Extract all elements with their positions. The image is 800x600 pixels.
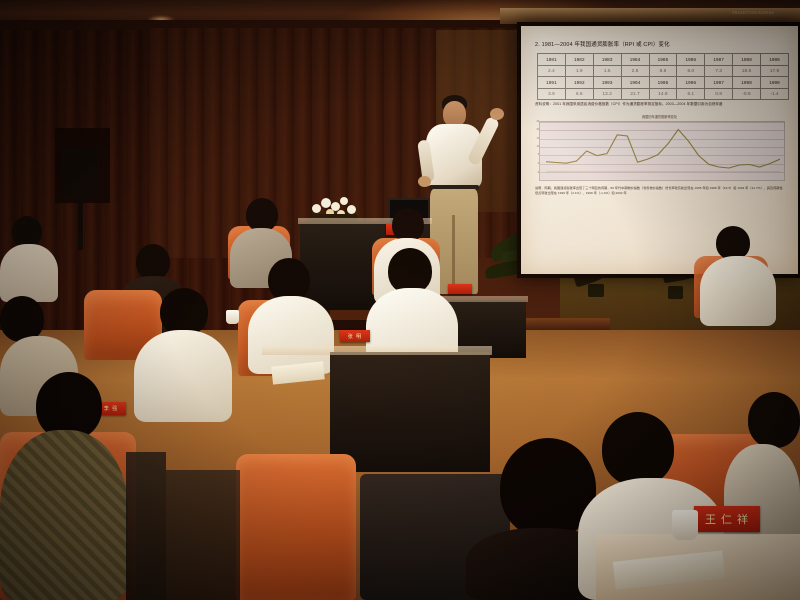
cell: 6.0	[677, 65, 705, 77]
cell: 6.1	[677, 88, 705, 100]
cell: 1983	[593, 54, 621, 66]
attendee-head	[246, 198, 278, 232]
placard-text: 李 强	[104, 405, 118, 412]
placard-text: 王 仁 祥	[705, 511, 749, 527]
pa-speaker-stand	[78, 198, 83, 250]
cell: 1986	[677, 54, 705, 66]
cell: 0.8	[705, 88, 733, 100]
y-tick-15: 15	[530, 138, 539, 140]
cell: 1989	[761, 54, 789, 66]
tea-cup-mid	[226, 310, 239, 324]
front-table-skirt-2	[166, 470, 240, 600]
y-tick-10: 10	[530, 146, 539, 148]
table-row-values-2: 3.9 6.6 13.2 21.7 14.8 6.1 0.8 -0.8 -1.4	[538, 88, 789, 100]
audience-table-mid	[330, 352, 490, 472]
cell: 1982	[565, 54, 593, 66]
cell: 1998	[733, 77, 761, 89]
cell: 13.2	[593, 88, 621, 100]
screen-valance-label: PROJECTION SCREEN	[732, 11, 774, 15]
cell: 2.4	[538, 65, 566, 77]
slide-note-above-chart: 资料说明：2001 年我国采用居民消费价格指数（CPI）作为通货膨胀率测定指标。…	[535, 102, 723, 107]
attendee-body	[700, 256, 776, 326]
y-tick-0: 0	[530, 163, 539, 165]
chart-title: 我国历年通货膨胀率变化	[521, 114, 798, 119]
conference-room-photo: PROJECTION SCREEN 2. 1981—2004 年我国通货膨胀率（…	[0, 0, 800, 600]
slide-title: 2. 1981—2004 年我国通货膨胀率（RPI 或 CPI）变化	[535, 40, 670, 48]
cell: 14.8	[649, 88, 677, 100]
cell: 1.5	[593, 65, 621, 77]
y-tick-20: 20	[530, 129, 539, 131]
cell: 2.8	[621, 65, 649, 77]
inflation-data-table: 1981 1982 1983 1984 1985 1986 1987 1988 …	[537, 53, 789, 100]
cell: 1992	[565, 77, 593, 89]
y-tick-neg5: -5	[528, 172, 539, 174]
cell: 1999	[761, 77, 789, 89]
y-tick-25: 25	[530, 121, 539, 123]
cell: 7.3	[705, 65, 733, 77]
audience-tabletop-mid	[262, 346, 492, 355]
name-placard-mid: 张 明	[340, 330, 370, 342]
cell: 1987	[705, 54, 733, 66]
chart-plot-area	[540, 122, 784, 180]
table-row-years-1: 1981 1982 1983 1984 1985 1986 1987 1988 …	[538, 54, 789, 66]
cell: 1981	[538, 54, 566, 66]
y-tick-5: 5	[530, 154, 539, 156]
attendee-head	[716, 226, 750, 260]
attendee-body	[0, 244, 58, 302]
projection-screen: 2. 1981—2004 年我国通货膨胀率（RPI 或 CPI）变化 1981 …	[521, 26, 798, 274]
attendee-head	[602, 412, 674, 486]
cell: 1985	[649, 54, 677, 66]
attendee-head	[392, 208, 424, 242]
cell: 21.7	[621, 88, 649, 100]
cell: -0.8	[733, 88, 761, 100]
front-table-skirt	[126, 452, 166, 600]
inflation-table-body: 1981 1982 1983 1984 1985 1986 1987 1988 …	[538, 54, 789, 100]
attendee-body	[0, 430, 128, 600]
name-placard-stage	[448, 284, 472, 294]
cell: 1984	[621, 54, 649, 66]
inflation-line-chart: 25 20 15 10 5 0 -5	[539, 121, 785, 181]
plant-pot-2	[668, 286, 683, 299]
attendee-head	[748, 392, 800, 448]
name-placard-front: 王 仁 祥	[694, 506, 760, 532]
plant-pot-1	[588, 284, 604, 297]
cell: 1988	[733, 54, 761, 66]
pa-speaker	[62, 148, 100, 198]
cell: -1.4	[761, 88, 789, 100]
cell: 1995	[649, 77, 677, 89]
cell: 1994	[621, 77, 649, 89]
placard-text: 张 明	[348, 333, 362, 340]
presentation-slide: 2. 1981—2004 年我国通货膨胀率（RPI 或 CPI）变化 1981 …	[521, 26, 798, 274]
attendee-head	[160, 288, 208, 336]
presenter-raised-hand	[490, 108, 504, 120]
slide-footnote: 说明：同期，我国通货膨胀率出现了三个明显的周期，80 年代中期物价指数（零售物价…	[535, 186, 785, 195]
cell: 18.5	[733, 65, 761, 77]
chair-front-2	[236, 454, 356, 600]
attendee-body	[134, 330, 232, 422]
tea-cup-front	[672, 510, 698, 540]
table-row-years-2: 1991 1992 1993 1994 1995 1996 1997 1998 …	[538, 77, 789, 89]
cell: 1996	[677, 77, 705, 89]
cell: 8.8	[649, 65, 677, 77]
cell: 1991	[538, 77, 566, 89]
presenter-trouser-seam	[452, 215, 455, 293]
cell: 1997	[705, 77, 733, 89]
table-row-values-1: 2.4 1.9 1.5 2.8 8.8 6.0 7.3 18.5 17.8	[538, 65, 789, 77]
cell: 1.9	[565, 65, 593, 77]
cell: 3.9	[538, 88, 566, 100]
cell: 17.8	[761, 65, 789, 77]
cell: 1993	[593, 77, 621, 89]
attendee-head	[136, 244, 170, 280]
cell: 6.6	[565, 88, 593, 100]
